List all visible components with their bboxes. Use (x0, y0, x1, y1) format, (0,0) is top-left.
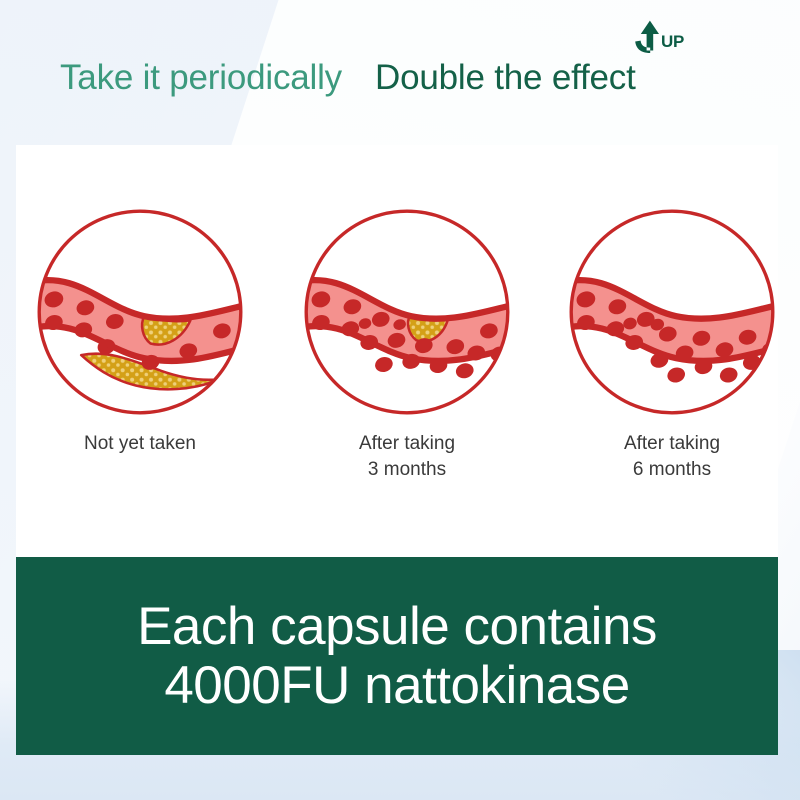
panel-after-3-months: After taking 3 months (302, 207, 512, 482)
brand-logo-text: UP (661, 33, 684, 54)
headline-part-b: Double the effect (375, 58, 636, 97)
panel-not-yet-taken: Not yet taken (35, 207, 245, 457)
caption-line-1: After taking (624, 433, 720, 454)
header: UP Take it periodically Double the effec… (0, 0, 800, 145)
caption-line-1: Not yet taken (84, 433, 196, 454)
infographic-poster: UP Take it periodically Double the effec… (0, 0, 800, 800)
panel-caption: After taking 6 months (567, 431, 777, 482)
vessel-diagram-clear (567, 207, 777, 417)
vessel-diagram-heavily-blocked (35, 207, 245, 417)
banner-line-2: 4000FU nattokinase (164, 656, 629, 715)
panel-caption: After taking 3 months (302, 431, 512, 482)
headline-part-a: Take it periodically (60, 58, 342, 97)
page-title: Take it periodically Double the effect (60, 58, 636, 98)
product-claim-banner: Each capsule contains 4000FU nattokinase (16, 557, 778, 755)
panel-after-6-months: After taking 6 months (567, 207, 777, 482)
caption-line-1: After taking (359, 433, 455, 454)
caption-line-2: 6 months (567, 457, 777, 483)
comparison-card: Not yet taken (16, 145, 778, 557)
banner-line-1: Each capsule contains (137, 597, 657, 656)
curved-up-arrow-icon (634, 20, 660, 54)
comparison-panels: Not yet taken (16, 145, 778, 557)
panel-caption: Not yet taken (35, 431, 245, 457)
vessel-diagram-partially-cleared (302, 207, 512, 417)
caption-line-2: 3 months (302, 457, 512, 483)
brand-logo: UP (634, 18, 684, 54)
